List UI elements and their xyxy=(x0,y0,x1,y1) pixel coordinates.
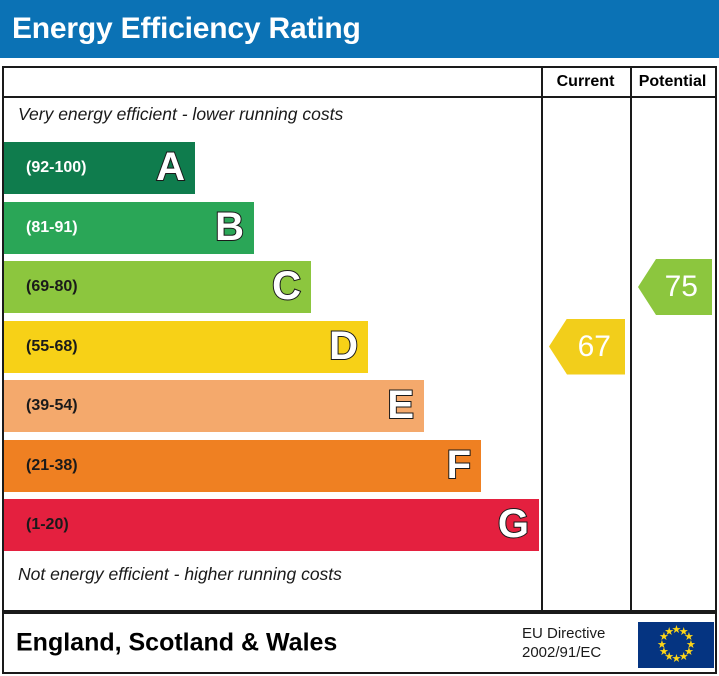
rating-table: Current Potential Very energy efficient … xyxy=(2,66,717,612)
potential-rating-value: 75 xyxy=(665,272,712,302)
band-range-label: (39-54) xyxy=(4,397,78,415)
eu-directive-line1: EU Directive xyxy=(522,624,605,643)
rating-bands: (92-100)A(81-91)B(69-80)C(55-68)D(39-54)… xyxy=(4,134,541,564)
band-range-label: (92-100) xyxy=(4,159,86,177)
rating-band-g: (1-20)G xyxy=(4,499,539,551)
footer-bar: England, Scotland & Wales EU Directive 2… xyxy=(2,612,717,674)
rating-band-c: (69-80)C xyxy=(4,261,311,313)
current-rating-value: 67 xyxy=(578,332,625,362)
eu-flag-star: ★ xyxy=(664,628,673,637)
rating-band-e: (39-54)E xyxy=(4,380,424,432)
band-letter: B xyxy=(215,207,244,247)
current-rating-arrow: 67 xyxy=(549,319,625,375)
eu-flag-icon: ★★★★★★★★★★★★ xyxy=(638,622,714,668)
divider-current-potential xyxy=(630,68,632,610)
band-range-label: (21-38) xyxy=(4,457,78,475)
rating-band-b: (81-91)B xyxy=(4,202,254,254)
rating-band-d: (55-68)D xyxy=(4,321,368,373)
band-letter: G xyxy=(498,504,529,544)
region-label: England, Scotland & Wales xyxy=(16,629,337,658)
potential-rating-arrow: 75 xyxy=(638,259,712,315)
eu-directive-line2: 2002/91/EC xyxy=(522,643,605,662)
caption-top: Very energy efficient - lower running co… xyxy=(18,104,343,125)
rating-band-a: (92-100)A xyxy=(4,142,195,194)
band-letter: D xyxy=(329,326,358,366)
header-banner: Energy Efficiency Rating xyxy=(0,0,719,58)
band-letter: F xyxy=(447,445,471,485)
energy-efficiency-certificate: Energy Efficiency Rating Current Potenti… xyxy=(0,0,719,676)
band-range-label: (81-91) xyxy=(4,219,78,237)
column-header-potential: Potential xyxy=(630,68,715,96)
page-title: Energy Efficiency Rating xyxy=(0,14,361,44)
band-range-label: (55-68) xyxy=(4,338,78,356)
band-range-label: (69-80) xyxy=(4,278,78,296)
divider-bars-current xyxy=(541,68,543,610)
rating-band-f: (21-38)F xyxy=(4,440,481,492)
band-letter: A xyxy=(156,147,185,187)
column-header-current: Current xyxy=(541,68,630,96)
eu-directive-text: EU Directive 2002/91/EC xyxy=(522,624,605,662)
band-letter: E xyxy=(387,385,414,425)
caption-bottom: Not energy efficient - higher running co… xyxy=(18,564,342,585)
band-range-label: (1-20) xyxy=(4,516,69,534)
band-letter: C xyxy=(272,266,301,306)
